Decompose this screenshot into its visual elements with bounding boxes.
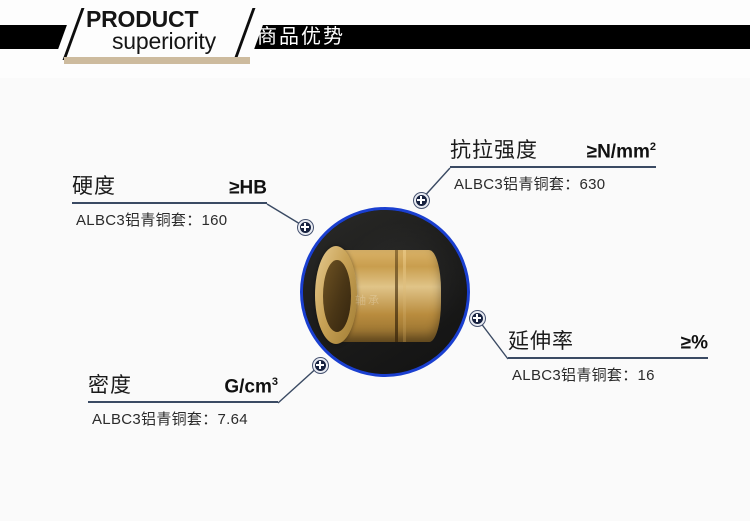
spec-callout-elongation: 延伸率 ≥% ALBC3铝青铜套：16 (508, 325, 708, 385)
spec-unit-sup-density: 3 (272, 376, 278, 388)
spec-head-density: 密度 G/cm3 (88, 369, 278, 403)
node-dot-tensile (414, 193, 429, 208)
spec-name-hardness: 硬度 (72, 170, 116, 200)
product-photo-image: 轴承 (303, 210, 467, 374)
spec-value-elongation: ALBC3铝青铜套：16 (508, 359, 708, 385)
spec-value-hardness: ALBC3铝青铜套：160 (72, 204, 267, 230)
spec-name-elongation: 延伸率 (508, 325, 574, 355)
node-dot-hardness (298, 220, 313, 235)
node-dot-elongation (470, 311, 485, 326)
spec-unit-tensile: ≥N/mm2 (561, 141, 656, 163)
node-dot-density (313, 358, 328, 373)
spec-value-density: ALBC3铝青铜套：7.64 (88, 403, 278, 429)
spec-name-density: 密度 (88, 369, 132, 399)
spec-unit-text-hardness: ≥HB (229, 177, 267, 198)
spec-value-tensile: ALBC3铝青铜套：630 (450, 168, 656, 194)
spec-callout-density: 密度 G/cm3 ALBC3铝青铜套：7.64 (88, 369, 278, 429)
spec-callout-tensile: 抗拉强度 ≥N/mm2 ALBC3铝青铜套：630 (450, 134, 656, 194)
spec-unit-sup-tensile: 2 (650, 141, 656, 153)
product-superiority-infographic: PRODUCT superiority 商品优势 轴承 (0, 0, 750, 521)
bushing-groove-a (395, 250, 398, 342)
photo-watermark: 轴承 (355, 292, 381, 308)
spec-head-tensile: 抗拉强度 ≥N/mm2 (450, 134, 656, 168)
header-banner: PRODUCT superiority 商品优势 (0, 0, 750, 78)
spec-name-tensile: 抗拉强度 (450, 134, 538, 164)
bushing-groove-b (403, 250, 406, 342)
spec-unit-text-density: G/cm (224, 376, 272, 397)
spec-unit-density: G/cm3 (198, 376, 278, 398)
header-title-superiority: superiority (112, 30, 216, 53)
spec-unit-hardness: ≥HB (203, 177, 267, 199)
spec-unit-text-tensile: ≥N/mm (587, 141, 650, 162)
spec-unit-text-elongation: ≥% (681, 332, 708, 353)
spec-head-elongation: 延伸率 ≥% (508, 325, 708, 359)
spec-head-hardness: 硬度 ≥HB (72, 170, 267, 204)
product-photo: 轴承 (300, 207, 470, 377)
spec-unit-elongation: ≥% (655, 332, 708, 354)
header-title-chinese: 商品优势 (257, 24, 345, 50)
connector-density (278, 365, 320, 403)
header-underbar (64, 57, 250, 64)
header-latin-title: PRODUCT superiority (86, 6, 256, 58)
bushing-bore (323, 260, 351, 332)
spec-callout-hardness: 硬度 ≥HB ALBC3铝青铜套：160 (72, 170, 267, 230)
